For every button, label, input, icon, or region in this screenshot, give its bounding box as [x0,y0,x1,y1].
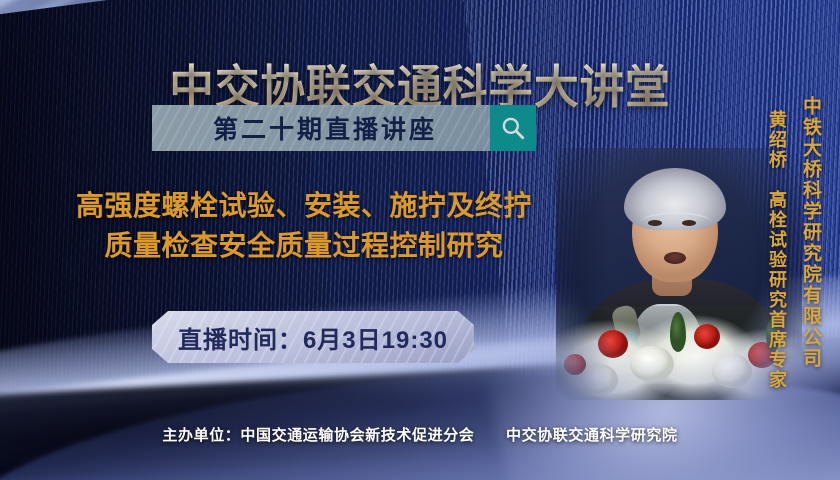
live-lecture-poster: 中交协联交通科学大讲堂 第二十期直播讲座 高强度螺栓试验、安装、施拧及终拧 质量… [0,0,840,480]
subtitle-label: 第二十期直播讲座 [152,110,504,146]
lecture-title-line-2: 质量检查安全质量过程控制研究 [8,226,600,266]
broadcast-time-badge: 直播时间：6月3日19:30 [152,311,474,363]
organizer-secondary: 中交协联交通科学研究院 [506,427,678,444]
speaker-organization: 中铁大桥科学研究院有限公司 [797,96,824,369]
organizer-primary: 主办单位：中国交通运输协会新技术促进分会 [162,427,474,444]
lecture-title-line-1: 高强度螺栓试验、安装、施拧及终拧 [8,186,600,226]
speaker-name-and-title: 黄绍桥 高栓试验研究首席专家 [764,110,790,390]
subtitle-banner: 第二十期直播讲座 [152,105,504,151]
broadcast-time-label: 直播时间：6月3日19:30 [178,320,448,355]
organizer-footer: 主办单位：中国交通运输协会新技术促进分会 中交协联交通科学研究院 [0,424,840,445]
lecture-title: 高强度螺栓试验、安装、施拧及终拧 质量检查安全质量过程控制研究 [8,186,600,267]
